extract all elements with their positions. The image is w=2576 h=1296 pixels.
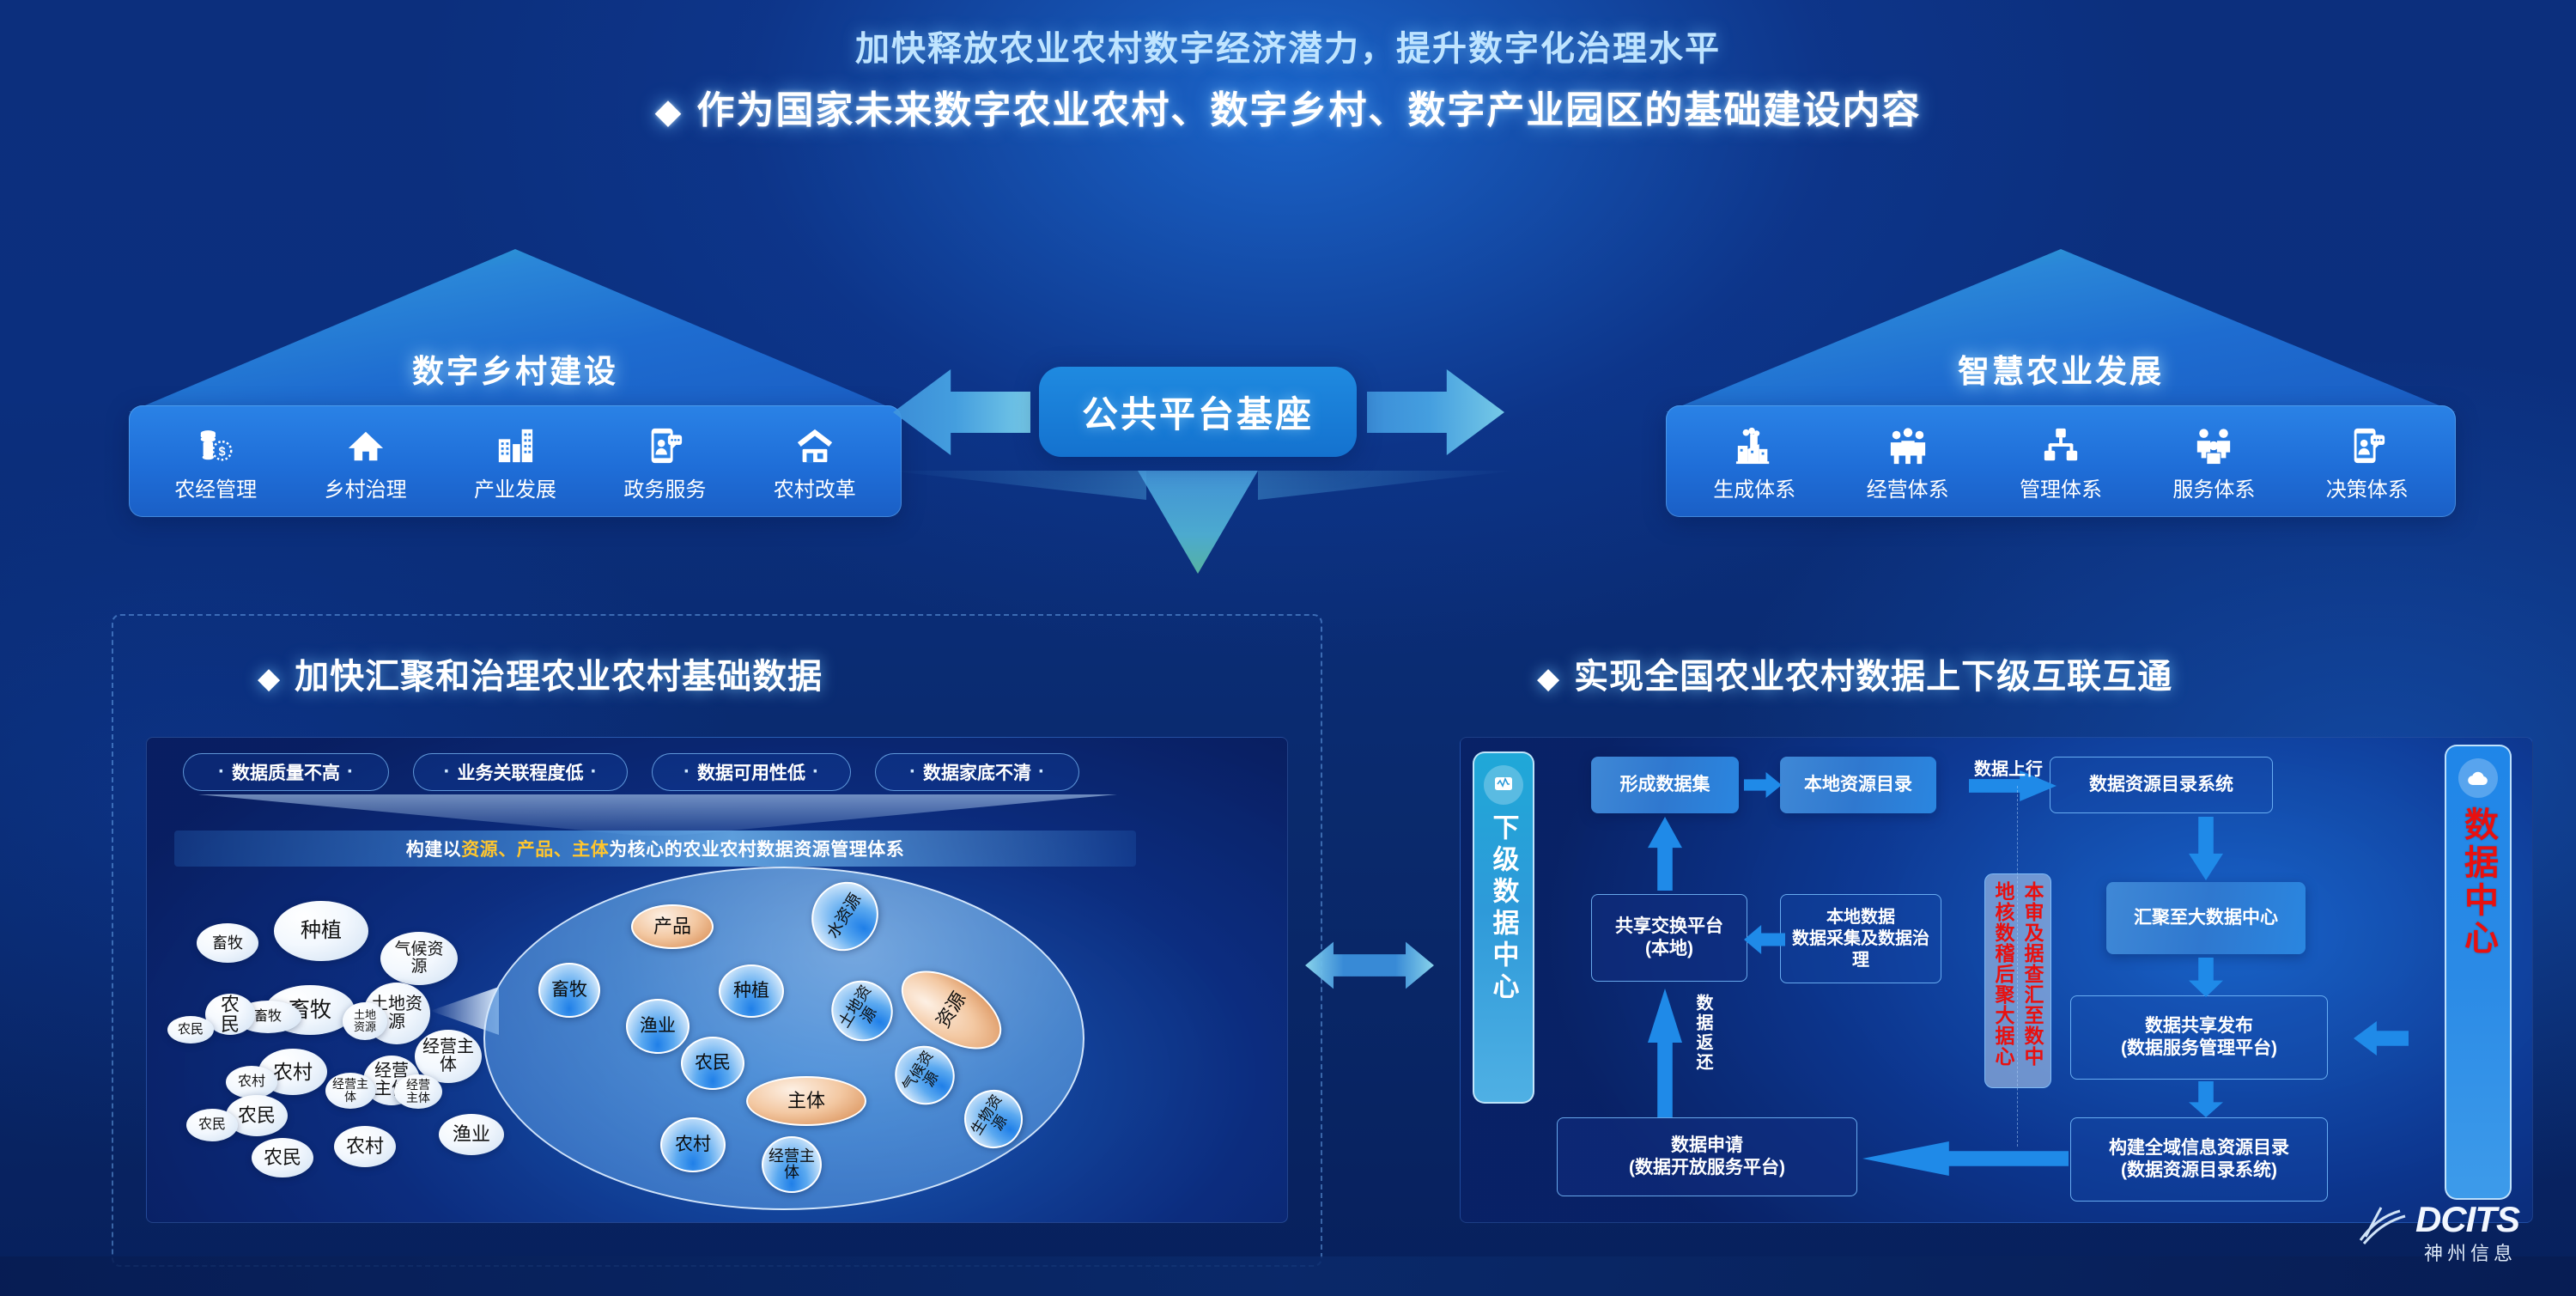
left-panel-body: 数据质量不高 业务关联程度低 数据可用性低 数据家底不清 构建以资源、产品、主体… <box>146 737 1288 1223</box>
right-house-card: 智慧农业发展 生成体系 经营体系 管理体系 服务体系 决策体系 <box>1666 249 2456 524</box>
flow-box-line: (数据开放服务平台) <box>1629 1157 1785 1179</box>
flow-box-b8[interactable]: 构建全域信息资源目录(数据资源目录系统) <box>2070 1117 2328 1202</box>
flow-box-b3[interactable]: 数据资源目录系统 <box>2050 757 2273 813</box>
core-node: 渔业 <box>626 999 690 1054</box>
core-node: 资源 <box>888 955 1014 1065</box>
core-node: 主体 <box>746 1076 866 1126</box>
core-node-label: 农民 <box>695 1054 731 1073</box>
core-node-host: 产品水资源畜牧种植土地资源资源渔业农民气候资源主体生物资源农村经营主体 <box>149 739 1169 1223</box>
page-subtitle: ◆作为国家未来数字农业农村、数字乡村、数字产业园区的基础建设内容 <box>0 79 2576 134</box>
flow-box-b6[interactable]: 汇聚至大数据中心 <box>2106 882 2306 954</box>
platform-base-card[interactable]: 公共平台基座 <box>1039 367 1357 457</box>
service-people-icon <box>2194 421 2233 465</box>
flow-box-line: 本地数据 <box>1826 907 1895 928</box>
core-node: 种植 <box>719 964 784 1018</box>
footer-strip <box>0 1256 2576 1296</box>
left-item-4[interactable]: 农村改革 <box>767 421 863 502</box>
right-panel-body: 下级数据中心 数据中心 形成数据集本地资源目录数据资源目录系统共享交换平台(本地… <box>1460 737 2533 1223</box>
flow-box-line: (本地) <box>1645 938 1693 960</box>
core-node-label: 水资源 <box>824 891 865 941</box>
funnel-wing-left <box>889 471 1146 500</box>
flow-box-b5[interactable]: 本地数据数据采集及数据治理 <box>1780 894 1941 983</box>
left-item-1-label: 乡村治理 <box>325 472 407 502</box>
flow-box-line: 构建全域信息资源目录 <box>2109 1137 2289 1159</box>
red-note-box: 本审及据查汇至数中 地核数稽后聚大据心 <box>1984 873 2051 1088</box>
flow-box-b1[interactable]: 形成数据集 <box>1591 757 1739 813</box>
flow-box-line: 汇聚至大数据中心 <box>2134 907 2278 929</box>
diamond-bullet-icon: ◆ <box>1537 662 1560 695</box>
flow-box-b7[interactable]: 数据共享发布(数据服务管理平台) <box>2070 995 2328 1080</box>
right-item-4[interactable]: 决策体系 <box>2319 421 2415 502</box>
left-item-0-label: 农经管理 <box>174 472 257 502</box>
flow-box-line: (数据资源目录系统) <box>2121 1159 2277 1182</box>
core-node: 农民 <box>681 1037 744 1090</box>
right-item-0-label: 生成体系 <box>1713 472 1795 502</box>
left-house-base: $ 农经管理 乡村治理 产业发展 政务服务 农村改革 <box>129 405 902 517</box>
core-node-label: 资源 <box>933 989 969 1031</box>
left-house-card: 数字乡村建设 $ 农经管理 乡村治理 产业发展 政务服务 农村改革 <box>129 249 902 524</box>
core-node: 生物资源 <box>953 1079 1034 1159</box>
core-node-label: 渔业 <box>640 1017 676 1036</box>
core-node: 水资源 <box>799 869 891 964</box>
flow-box-line: (数据服务管理平台) <box>2121 1037 2277 1060</box>
core-node: 农村 <box>660 1117 726 1172</box>
right-item-4-label: 决策体系 <box>2326 472 2409 502</box>
diamond-bullet-icon: ◆ <box>258 662 281 695</box>
logo-name: DCITS <box>2415 1199 2519 1240</box>
left-item-3[interactable]: 政务服务 <box>617 421 713 502</box>
flow-box-line: 数据资源目录系统 <box>2089 774 2233 796</box>
platform-base-label: 公共平台基座 <box>1082 386 1314 438</box>
right-house-title: 智慧农业发展 <box>1666 345 2456 392</box>
core-node-label: 种植 <box>733 982 769 1001</box>
left-item-4-label: 农村改革 <box>774 472 856 502</box>
core-node: 土地资源 <box>820 969 904 1053</box>
svg-text:$: $ <box>219 445 226 459</box>
flow-box-b2[interactable]: 本地资源目录 <box>1780 757 1936 813</box>
core-node-label: 畜牧 <box>551 981 587 1000</box>
flow-box-b4[interactable]: 共享交换平台(本地) <box>1591 894 1747 982</box>
label-data-upstream: 数据上行 <box>1974 755 2043 780</box>
factory-icon <box>1735 421 1774 465</box>
core-node: 经营主体 <box>762 1136 822 1193</box>
funnel-wing-right <box>1258 471 1516 500</box>
money-stack-icon: $ <box>196 421 235 465</box>
flow-box-line: 形成数据集 <box>1620 774 1710 796</box>
arrow-left-icon <box>893 369 1030 455</box>
org-chart-icon <box>2041 421 2081 465</box>
home-icon <box>346 421 386 465</box>
flow-box-line: 本地资源目录 <box>1804 774 1912 796</box>
mobile-service-icon <box>645 421 684 465</box>
right-item-1-label: 经营体系 <box>1867 472 1949 502</box>
core-node-label: 产品 <box>653 916 691 936</box>
core-node-label: 经营主体 <box>768 1148 816 1181</box>
label-data-return: 数据返还 <box>1691 994 1716 1073</box>
left-item-2[interactable]: 产业发展 <box>467 421 563 502</box>
logo-mark-icon <box>2355 1202 2412 1249</box>
flow-box-line: 数据采集及数据治理 <box>1789 928 1932 971</box>
left-panel-heading-text: 加快汇聚和治理农业农村基础数据 <box>295 658 823 696</box>
diamond-bullet-icon: ◆ <box>655 93 683 131</box>
right-item-2-label: 管理体系 <box>2020 472 2102 502</box>
flow-box-b9[interactable]: 数据申请(数据开放服务平台) <box>1557 1117 1857 1196</box>
mobile-decision-icon <box>2348 421 2387 465</box>
page-title: 加快释放农业农村数字经济潜力，提升数字化治理水平 <box>0 21 2576 70</box>
left-item-3-label: 政务服务 <box>623 472 706 502</box>
flow-box-line: 数据共享发布 <box>2145 1015 2253 1037</box>
page-subtitle-text: 作为国家未来数字农业农村、数字乡村、数字产业园区的基础建设内容 <box>696 89 1921 131</box>
right-item-3-label: 服务体系 <box>2172 472 2255 502</box>
arrow-down-icon <box>1138 471 1258 574</box>
right-panel-heading-text: 实现全国农业农村数据上下级互联互通 <box>1574 658 2172 696</box>
core-node-label: 土地资源 <box>835 982 889 1040</box>
red-note-col-right: 地核数稽后聚大据心 <box>1989 881 2018 1067</box>
left-house-title: 数字乡村建设 <box>129 345 902 392</box>
right-panel-heading: ◆实现全国农业农村数据上下级互联互通 <box>1537 648 2172 698</box>
left-panel-heading: ◆加快汇聚和治理农业农村基础数据 <box>258 648 823 698</box>
slide-canvas: 加快释放农业农村数字经济潜力，提升数字化治理水平 ◆作为国家未来数字农业农村、数… <box>0 0 2576 1296</box>
house-reform-icon <box>795 421 835 465</box>
left-item-2-label: 产业发展 <box>474 472 556 502</box>
core-model-ellipse: 产品水资源畜牧种植土地资源资源渔业农民气候资源主体生物资源农村经营主体 <box>483 867 1084 1210</box>
logo-name-cn: 神州信息 <box>2424 1238 2517 1266</box>
right-house-base: 生成体系 经营体系 管理体系 服务体系 决策体系 <box>1666 405 2456 517</box>
right-item-1[interactable]: 经营体系 <box>1860 421 1956 502</box>
bidirectional-arrow-icon <box>1305 933 1434 998</box>
people-group-icon <box>1888 421 1928 465</box>
core-node-label: 气候资源 <box>899 1048 950 1104</box>
core-node: 畜牧 <box>538 963 600 1018</box>
core-node: 气候资源 <box>884 1035 965 1117</box>
flow-box-line: 共享交换平台 <box>1615 916 1723 938</box>
left-item-0[interactable]: $ 农经管理 <box>167 421 264 502</box>
left-item-1[interactable]: 乡村治理 <box>318 421 414 502</box>
core-node-label: 生物资源 <box>968 1092 1018 1147</box>
core-node-label: 主体 <box>787 1091 825 1110</box>
right-item-0[interactable]: 生成体系 <box>1706 421 1802 502</box>
right-item-3[interactable]: 服务体系 <box>2166 421 2262 502</box>
core-node: 产品 <box>631 904 714 949</box>
red-note-col-left: 本审及据查汇至数中 <box>2018 881 2047 1067</box>
arrow-right-icon <box>1367 369 1504 455</box>
buildings-icon <box>495 421 535 465</box>
core-node-label: 农村 <box>675 1135 711 1154</box>
brand-logo: DCITS 神州信息 <box>2348 1194 2563 1280</box>
right-item-2[interactable]: 管理体系 <box>2013 421 2109 502</box>
flow-box-line: 数据申请 <box>1671 1135 1743 1157</box>
